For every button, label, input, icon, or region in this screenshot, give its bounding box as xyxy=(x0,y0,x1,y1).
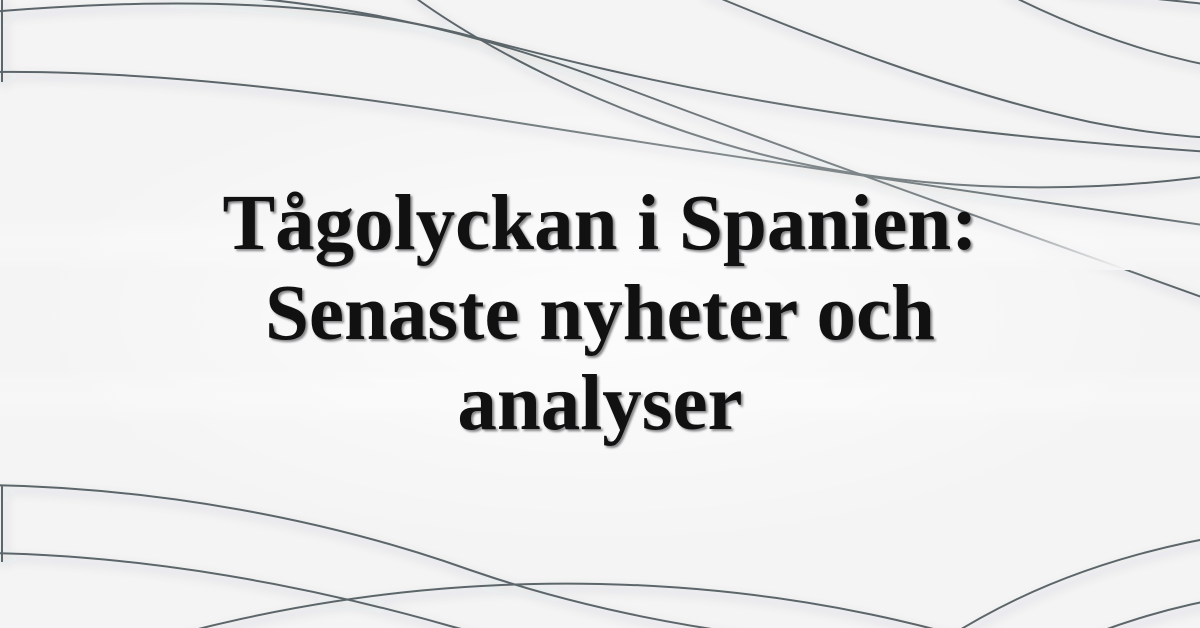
page-title-line-2: Senaste nyheter och xyxy=(150,269,1050,359)
page-title-line-3: analyser xyxy=(150,359,1050,449)
title-card: Tågolyckan i Spanien: Senaste nyheter oc… xyxy=(0,0,1200,628)
page-title: Tågolyckan i Spanien: Senaste nyheter oc… xyxy=(150,179,1050,449)
page-title-line-1: Tågolyckan i Spanien: xyxy=(150,179,1050,269)
title-block: Tågolyckan i Spanien: Senaste nyheter oc… xyxy=(0,0,1200,628)
